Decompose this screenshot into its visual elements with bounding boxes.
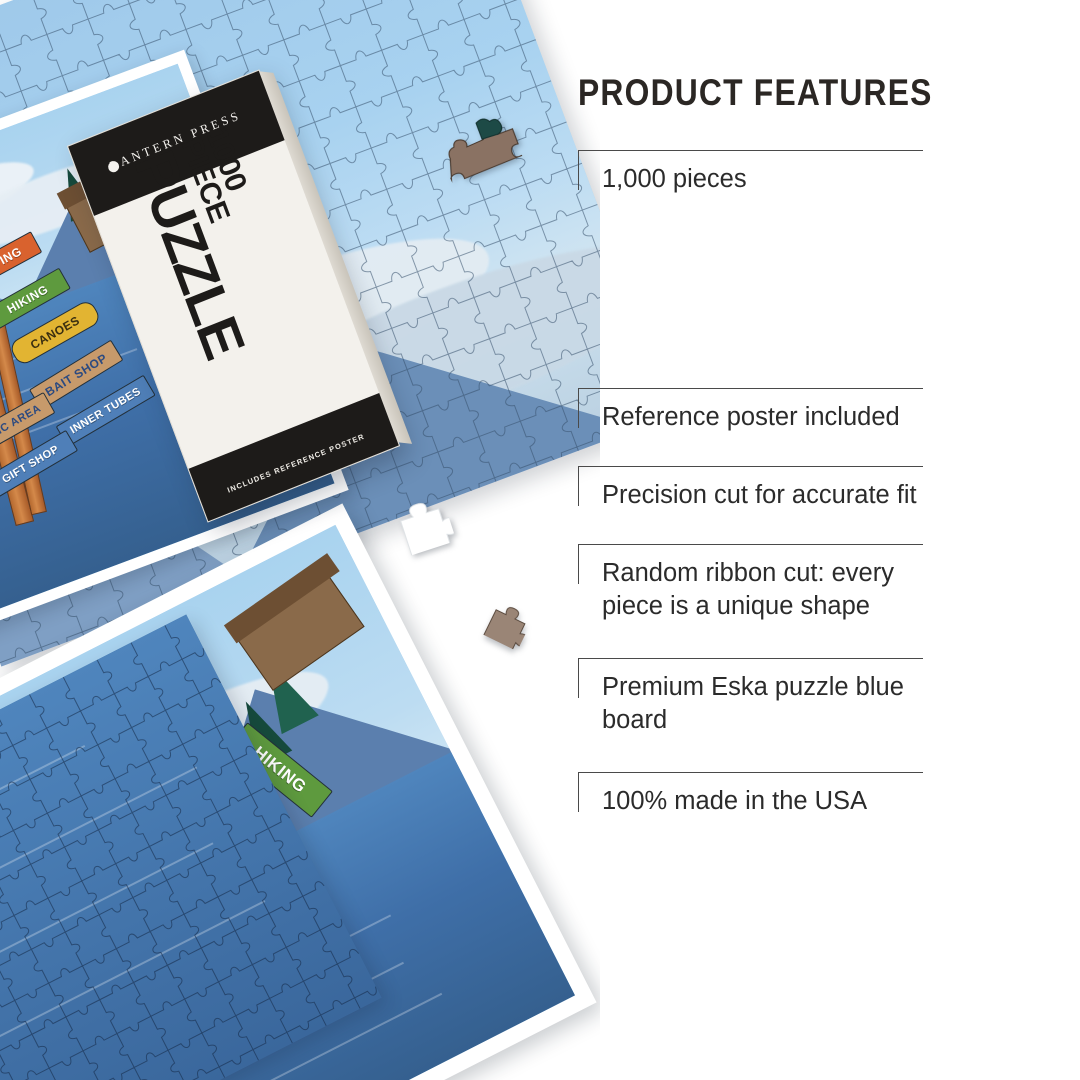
product-listing-image: GE [0,0,1080,1080]
feature-text: Premium Eska puzzle blue board [602,671,932,737]
feature-text: 1,000 pieces [602,163,932,196]
product-photo: GE [0,0,600,1080]
feature-bracket-tick [578,388,579,428]
feature-bracket-tick [578,658,579,698]
feature-divider [578,544,923,545]
feature-divider [578,772,923,773]
loose-puzzle-piece [479,597,534,651]
feature-divider [578,150,923,151]
feature-divider [578,466,923,467]
feature-text: Precision cut for accurate fit [602,479,932,512]
feature-text: 100% made in the USA [602,785,932,818]
feature-bracket-tick [578,772,579,812]
feature-bracket-tick [578,466,579,506]
feature-bracket-tick [578,544,579,584]
product-features-panel: PRODUCT FEATURES 1,000 pieces Reference … [578,0,978,1080]
feature-text: Reference poster included [602,401,932,434]
feature-divider [578,658,923,659]
feature-divider [578,388,923,389]
feature-bracket-tick [578,150,579,190]
feature-text: Random ribbon cut: every piece is a uniq… [602,557,932,623]
page-title: PRODUCT FEATURES [578,72,933,114]
